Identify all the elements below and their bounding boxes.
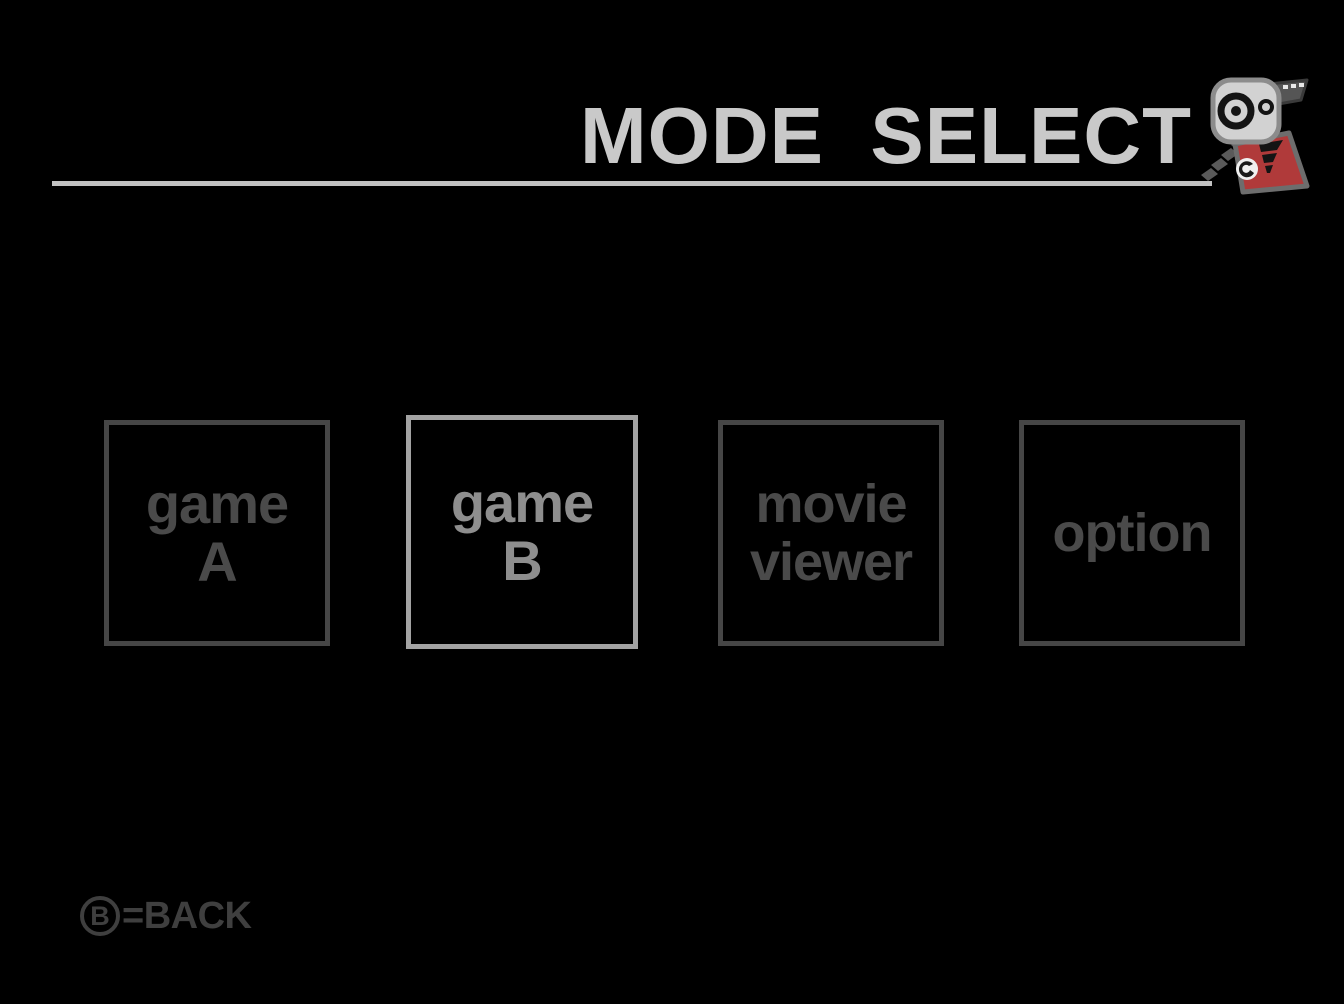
- mode-card-game-a[interactable]: game A: [104, 420, 330, 646]
- back-hint[interactable]: B =BACK: [80, 893, 251, 939]
- mode-card-game-b[interactable]: game B: [406, 415, 638, 649]
- mode-card-label: option: [1024, 504, 1240, 562]
- b-button-letter: B: [90, 903, 110, 930]
- page-title: MODE SELECT: [580, 96, 1192, 176]
- mode-card-movie-viewer[interactable]: movie viewer: [718, 420, 944, 646]
- title-divider: [52, 181, 1212, 186]
- b-button-icon: B: [80, 896, 120, 936]
- mode-card-label: game A: [146, 475, 288, 591]
- back-hint-label: =BACK: [122, 897, 251, 935]
- robot-mascot-icon: [1197, 70, 1317, 195]
- mode-card-label: game B: [451, 474, 593, 590]
- mode-card-label: movie viewer: [723, 475, 939, 591]
- mode-select-screen: MODE SELECT: [0, 0, 1344, 1004]
- mode-grid: game A game B movie viewer option: [0, 415, 1344, 660]
- header: MODE SELECT: [0, 0, 1344, 200]
- mode-card-option[interactable]: option: [1019, 420, 1245, 646]
